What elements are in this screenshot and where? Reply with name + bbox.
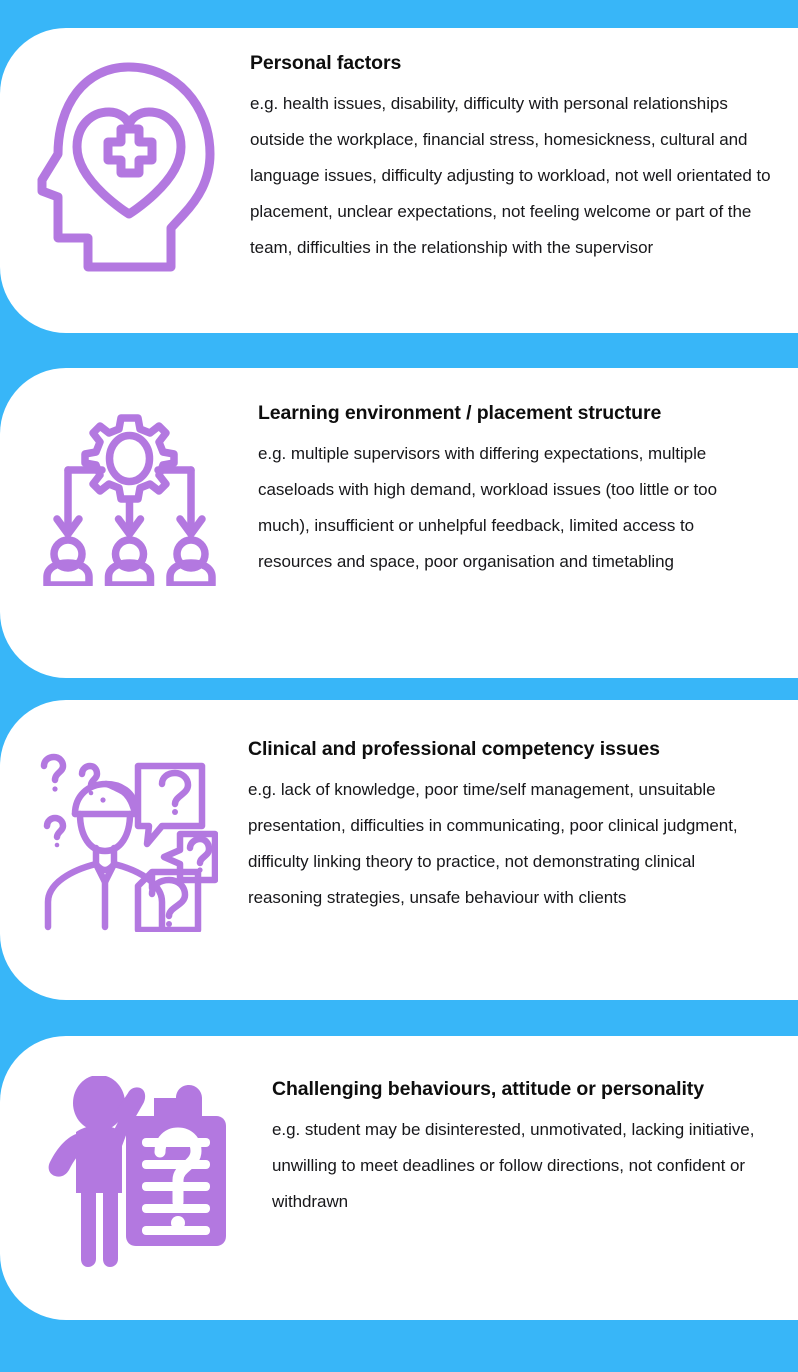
card-title: Clinical and professional competency iss… [248,728,718,771]
card-text-container: Clinical and professional competency iss… [248,700,798,916]
card-text-container: Challenging behaviours, attitude or pers… [272,1036,798,1220]
card-title: Challenging behaviours, attitude or pers… [272,1068,712,1111]
card-body: e.g. student may be disinterested, unmot… [272,1112,777,1220]
card-learning-environment: Learning environment / placement structu… [0,368,798,678]
card-title: Personal factors [250,42,786,85]
card-text-container: Learning environment / placement structu… [258,368,798,580]
card-challenging-behaviours: Challenging behaviours, attitude or pers… [0,1036,798,1320]
person-scratching-head-with-clipboard-question-icon [36,1076,236,1271]
card-body: e.g. multiple supervisors with differing… [258,436,770,580]
gear-with-arrows-to-people-icon [42,414,217,586]
card-icon-container [0,28,250,272]
card-personal-factors: Personal factors e.g. health issues, dis… [0,28,798,333]
card-icon-container [0,700,248,932]
head-with-heart-and-medical-cross-icon [28,62,223,272]
person-with-question-mark-speech-bubbles-icon [30,752,218,932]
card-text-container: Personal factors e.g. health issues, dis… [250,28,798,266]
card-body: e.g. lack of knowledge, poor time/self m… [248,772,758,916]
card-title: Learning environment / placement structu… [258,392,688,435]
card-icon-container [0,1036,272,1271]
card-clinical-competency: Clinical and professional competency iss… [0,700,798,1000]
infographic-board: Personal factors e.g. health issues, dis… [0,0,798,1372]
card-icon-container [0,368,258,586]
card-body: e.g. health issues, disability, difficul… [250,86,780,266]
